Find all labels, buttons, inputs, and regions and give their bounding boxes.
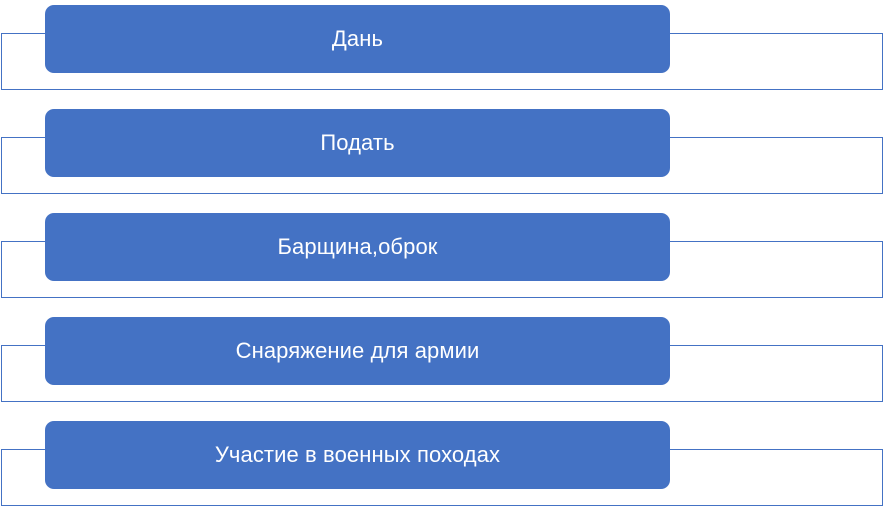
diagram-row: Снаряжение для армии [0,312,894,416]
diagram-row: Подать [0,104,894,208]
diagram-row: Барщина,оброк [0,208,894,312]
diagram-row: Участие в военных походах [0,416,894,520]
diagram-row: Дань [0,0,894,104]
diagram-chip[interactable]: Снаряжение для армии [45,317,670,385]
diagram-chip[interactable]: Участие в военных походах [45,421,670,489]
diagram-chip[interactable]: Дань [45,5,670,73]
diagram-chip-label: Подать [320,131,394,155]
diagram-chip-label: Дань [332,27,383,51]
diagram-chip-label: Участие в военных походах [215,443,500,467]
diagram-chip[interactable]: Барщина,оброк [45,213,670,281]
diagram-canvas: Дань Подать Барщина,оброк Снаряжение для… [0,0,894,515]
diagram-chip[interactable]: Подать [45,109,670,177]
diagram-chip-label: Барщина,оброк [277,235,437,259]
diagram-chip-label: Снаряжение для армии [236,339,480,363]
